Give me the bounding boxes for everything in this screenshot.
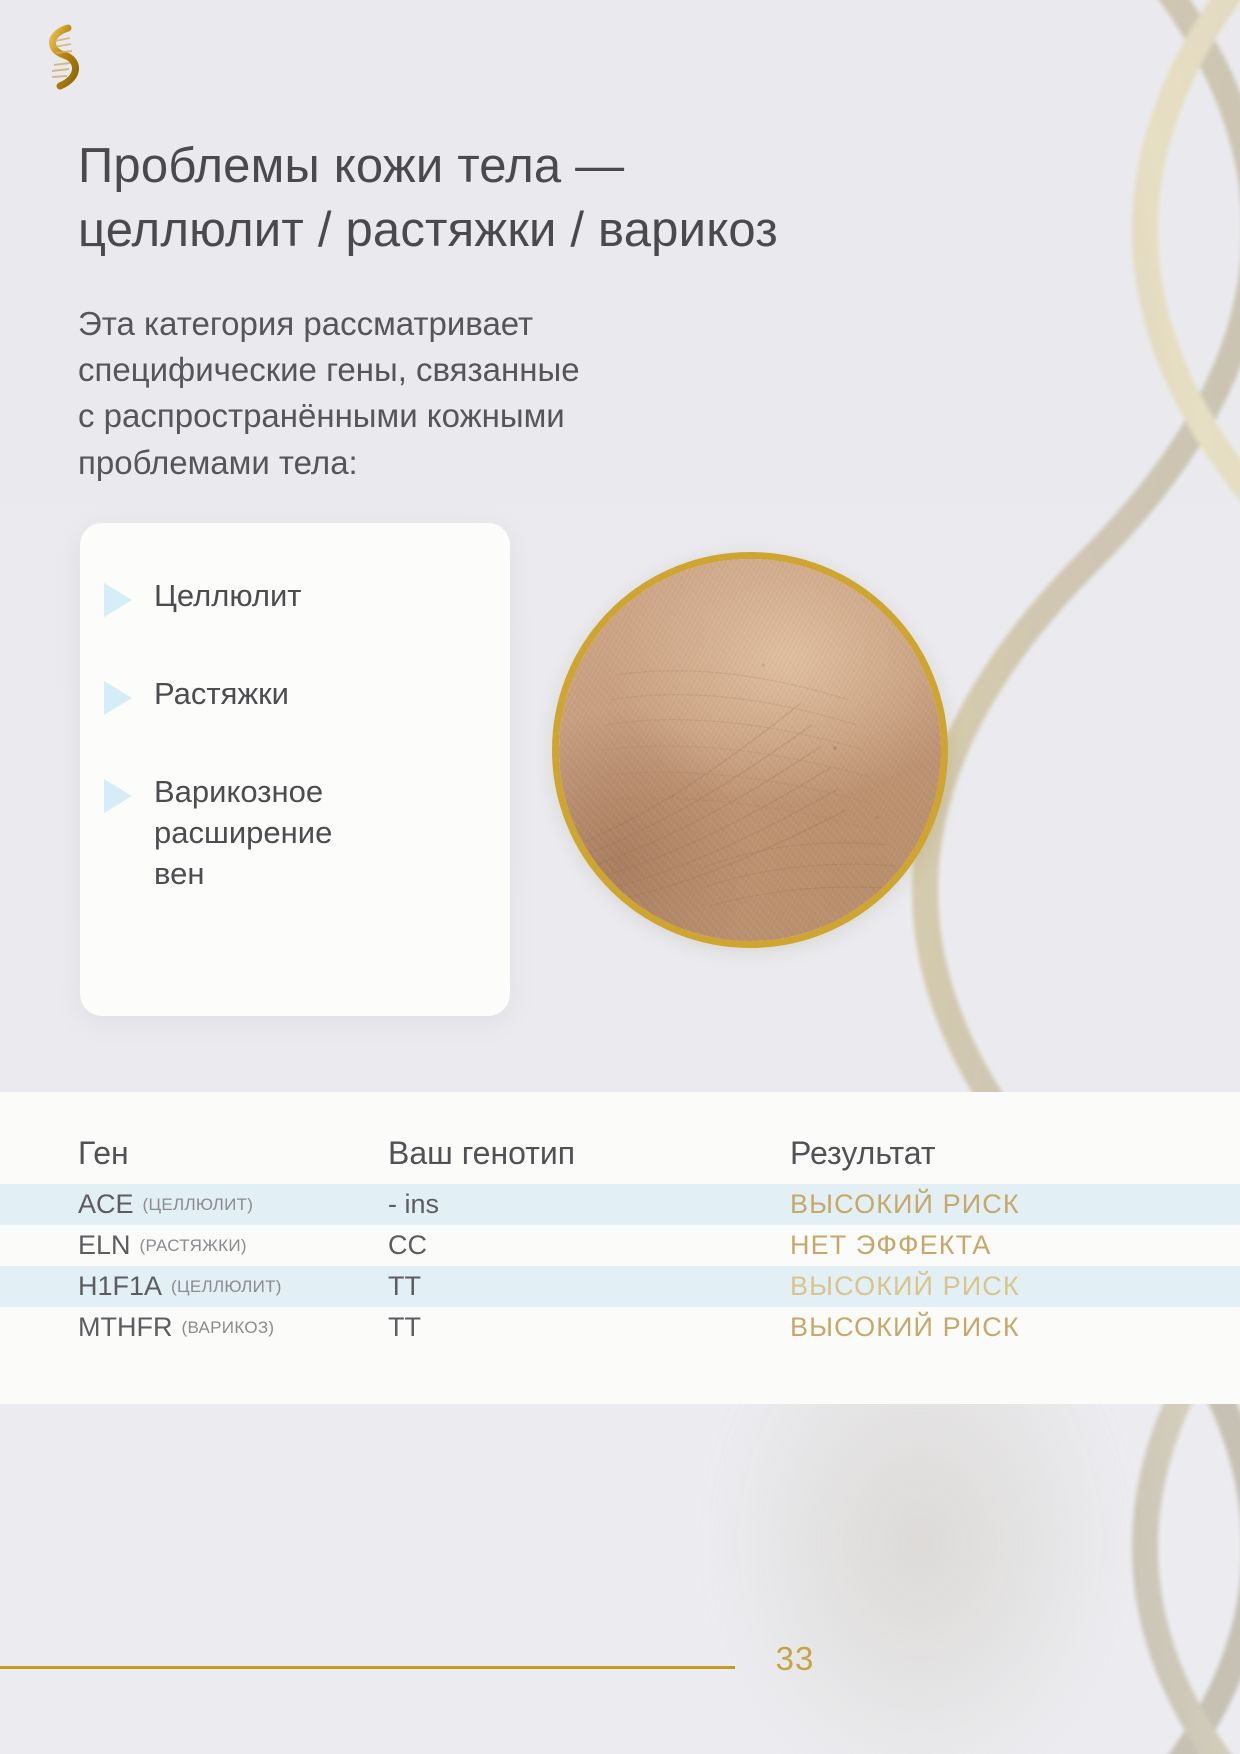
gene-name: MTHFR [78, 1312, 172, 1343]
gene-note: (ВАРИКОЗ) [181, 1318, 274, 1338]
column-header-genotype: Ваш генотип [388, 1092, 768, 1184]
table-row: MTHFR (ВАРИКОЗ) TT ВЫСОКИЙ РИСК [0, 1307, 1240, 1348]
cell-gene: H1F1A (ЦЕЛЛЮЛИТ) [78, 1266, 378, 1307]
page-number: 33 [735, 1640, 855, 1678]
intro-paragraph: Эта категория рассматривает специфически… [78, 301, 798, 486]
table-row: ACE (ЦЕЛЛЮЛИТ) - ins ВЫСОКИЙ РИСК [0, 1184, 1240, 1225]
triangle-bullet-icon [104, 779, 132, 813]
footer-rule [0, 1666, 735, 1669]
skin-texture-photo [552, 552, 948, 948]
list-item: Варикозное расширение вен [104, 771, 492, 895]
slide-page: Проблемы кожи тела — целлюлит / растяжки… [0, 0, 1240, 1754]
cell-result: ВЫСОКИЙ РИСК [790, 1184, 1210, 1225]
list-item-label: Растяжки [154, 673, 289, 714]
gene-name: ACE [78, 1189, 134, 1220]
page-title: Проблемы кожи тела — целлюлит / растяжки… [78, 135, 958, 262]
gene-note: (ЦЕЛЛЮЛИТ) [171, 1277, 282, 1297]
table-header-row: Ген Ваш генотип Результат [0, 1092, 1240, 1184]
intro-line-3: с распространёнными кожными [78, 393, 798, 439]
gene-note: (ЦЕЛЛЮЛИТ) [143, 1195, 254, 1215]
list-item-label: Целлюлит [154, 575, 302, 616]
conditions-list: Целлюлит Растяжки Варикозное расширение … [104, 575, 492, 895]
gene-name: H1F1A [78, 1271, 162, 1302]
list-item: Целлюлит [104, 575, 492, 617]
cell-gene: ACE (ЦЕЛЛЮЛИТ) [78, 1184, 378, 1225]
column-header-gene: Ген [78, 1092, 378, 1184]
cell-result: НЕТ ЭФФЕКТА [790, 1225, 1210, 1266]
triangle-bullet-icon [104, 583, 132, 617]
cell-gene: MTHFR (ВАРИКОЗ) [78, 1307, 378, 1348]
cell-gene: ELN (РАСТЯЖКИ) [78, 1225, 378, 1266]
cell-result: ВЫСОКИЙ РИСК [790, 1266, 1210, 1307]
triangle-bullet-icon [104, 681, 132, 715]
cell-genotype: CC [388, 1225, 768, 1266]
intro-line-4: проблемами тела: [78, 440, 798, 486]
dna-bottom-glow [720, 1374, 1120, 1754]
column-header-result: Результат [790, 1092, 1210, 1184]
gene-note: (РАСТЯЖКИ) [140, 1236, 247, 1256]
table-row: ELN (РАСТЯЖКИ) CC НЕТ ЭФФЕКТА [0, 1225, 1240, 1266]
cell-genotype: TT [388, 1307, 768, 1348]
table-footer-spacer [0, 1348, 1240, 1404]
dna-helix-icon [30, 22, 92, 94]
gene-name: ELN [78, 1230, 131, 1261]
page-title-line-1: Проблемы кожи тела — [78, 135, 958, 199]
list-item-label: Варикозное расширение вен [154, 771, 332, 895]
photo-grain-overlay [559, 559, 941, 941]
page-title-line-2: целлюлит / растяжки / варикоз [78, 199, 958, 263]
intro-line-2: специфические гены, связанные [78, 347, 798, 393]
cell-genotype: - ins [388, 1184, 768, 1225]
intro-line-1: Эта категория рассматривает [78, 301, 798, 347]
conditions-card: Целлюлит Растяжки Варикозное расширение … [80, 523, 510, 1016]
list-item: Растяжки [104, 673, 492, 715]
table-row: H1F1A (ЦЕЛЛЮЛИТ) TT ВЫСОКИЙ РИСК [0, 1266, 1240, 1307]
genotype-results-table: Ген Ваш генотип Результат ACE (ЦЕЛЛЮЛИТ)… [0, 1092, 1240, 1404]
cell-result: ВЫСОКИЙ РИСК [790, 1307, 1210, 1348]
cell-genotype: TT [388, 1266, 768, 1307]
